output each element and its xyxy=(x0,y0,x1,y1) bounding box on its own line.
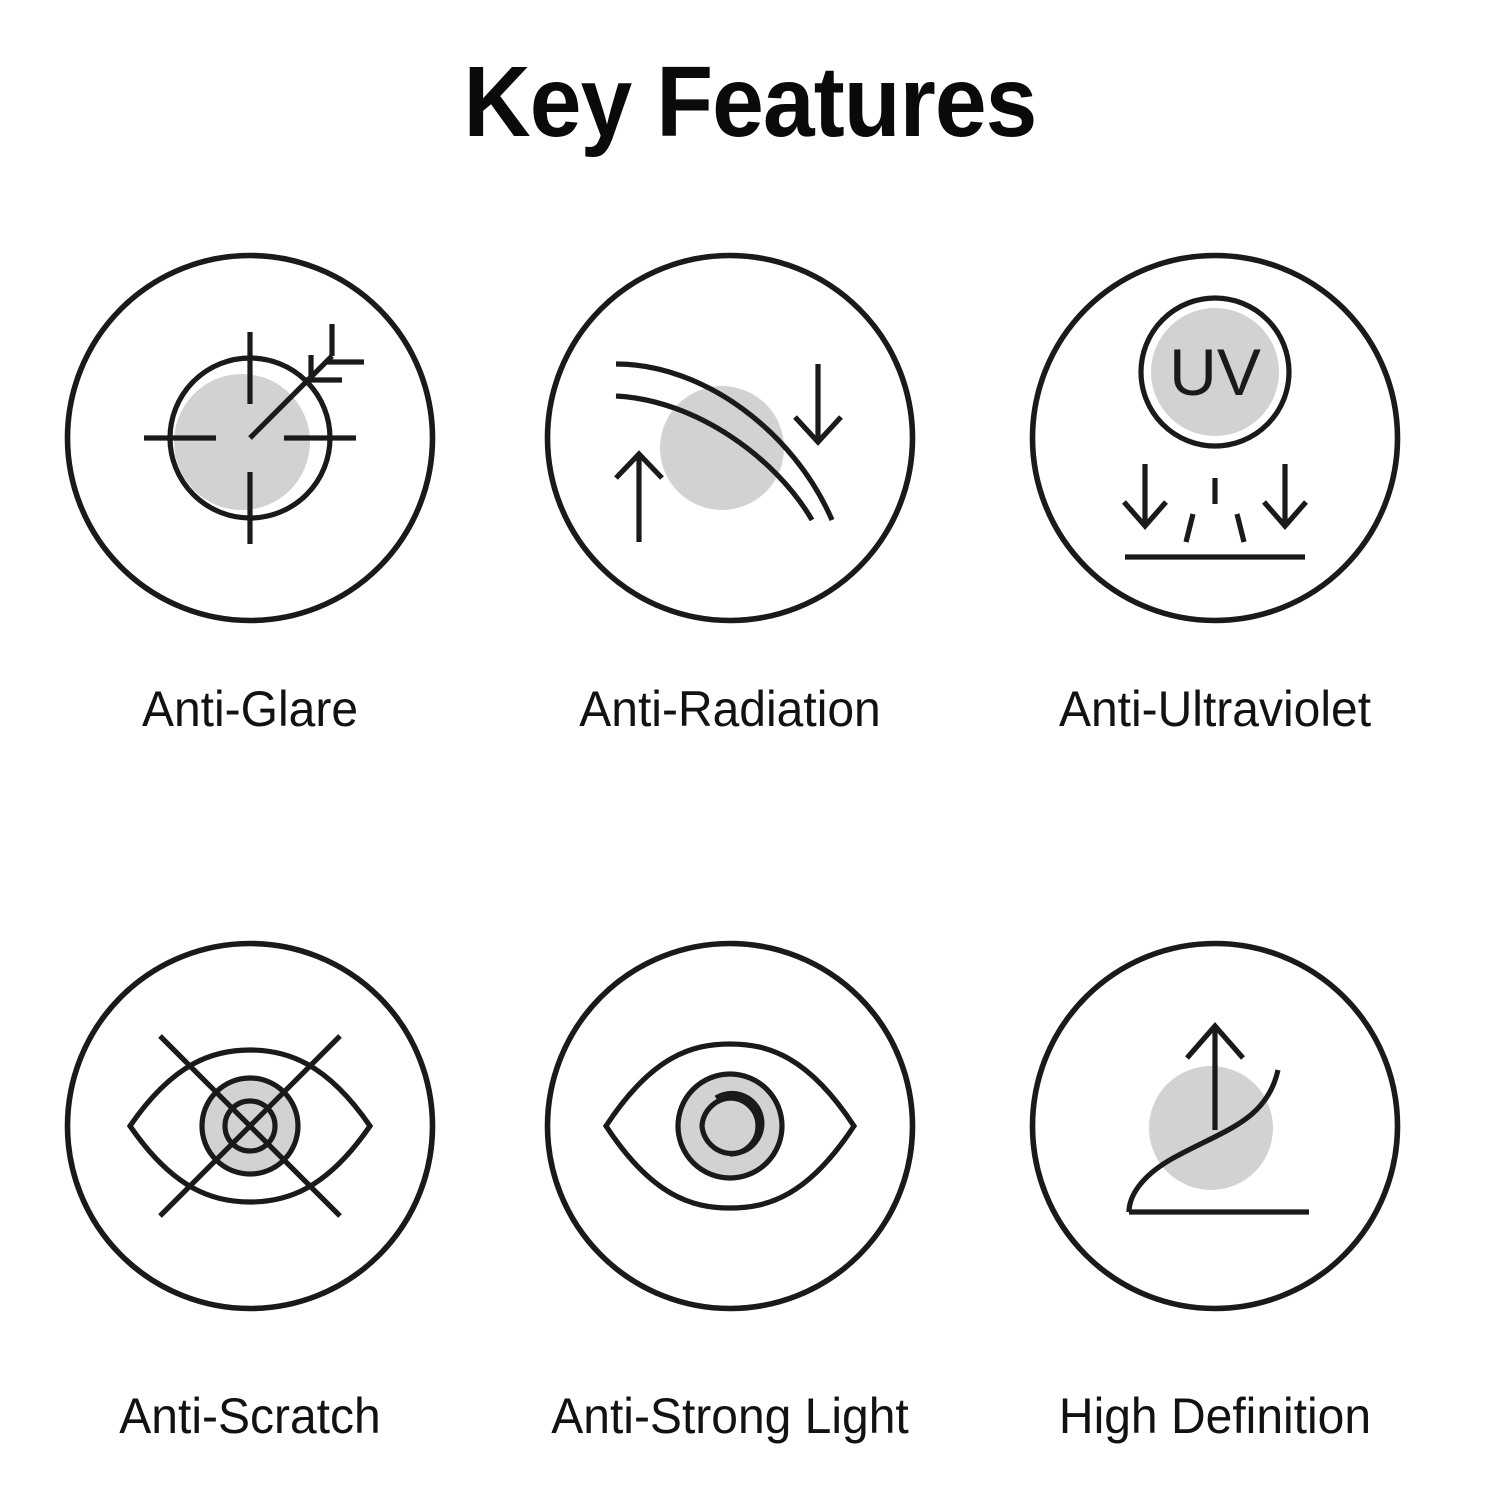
feature-label-anti-ultraviolet: Anti-Ultraviolet xyxy=(985,683,1446,736)
feature-label-anti-glare: Anti-Glare xyxy=(20,683,481,736)
anti-glare-crosshair-arrow-icon xyxy=(64,252,436,624)
feature-highlights-page: Key Features An xyxy=(0,0,1500,1500)
anti-radiation-waves-arrows-icon xyxy=(544,252,916,624)
feature-label-high-definition: High Definition xyxy=(985,1390,1446,1443)
feature-item-anti-scratch[interactable]: Anti-Scratch xyxy=(10,940,490,1443)
feature-item-high-definition[interactable]: High Definition xyxy=(975,940,1455,1443)
feature-item-anti-ultraviolet[interactable]: UV Anti-Ultraviolet xyxy=(975,252,1455,736)
anti-scratch-crossed-eye-icon xyxy=(64,940,436,1312)
feature-label-anti-radiation: Anti-Radiation xyxy=(500,683,961,736)
anti-ultraviolet-uv-shield-icon: UV xyxy=(1029,252,1401,624)
features-grid: Anti-Glare Anti-Radiation xyxy=(0,0,1500,1500)
high-definition-curve-arrow-icon xyxy=(1029,940,1401,1312)
feature-item-anti-radiation[interactable]: Anti-Radiation xyxy=(490,252,970,736)
feature-label-anti-strong-light: Anti-Strong Light xyxy=(500,1390,961,1443)
feature-item-anti-glare[interactable]: Anti-Glare xyxy=(10,252,490,736)
anti-strong-light-eye-spiral-icon xyxy=(544,940,916,1312)
feature-item-anti-strong-light[interactable]: Anti-Strong Light xyxy=(490,940,970,1443)
feature-label-anti-scratch: Anti-Scratch xyxy=(20,1390,481,1443)
uv-badge-text: UV xyxy=(1169,335,1261,409)
